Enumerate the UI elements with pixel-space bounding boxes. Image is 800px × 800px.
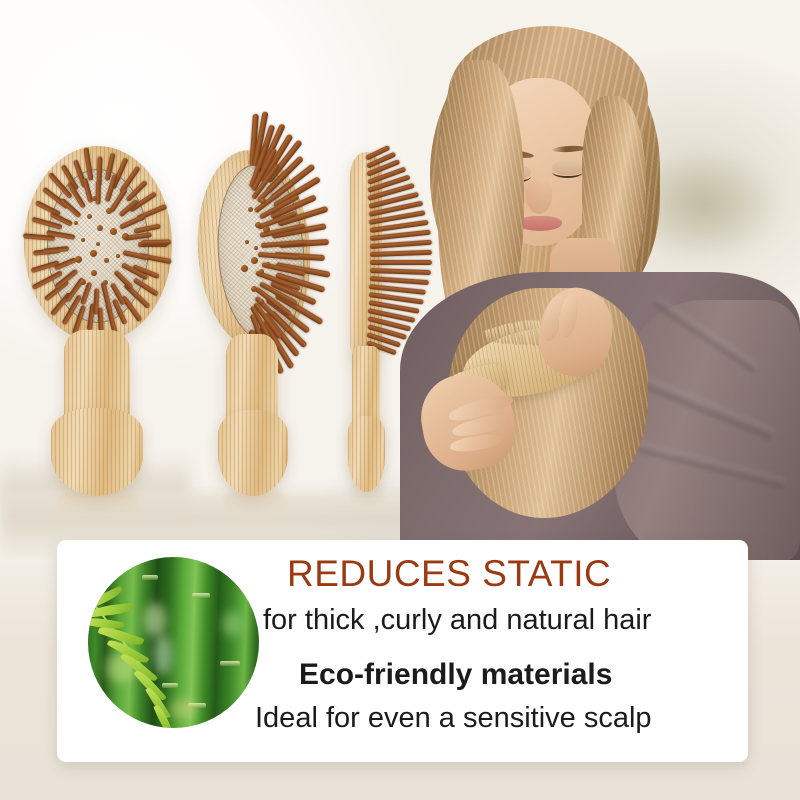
product-brush-angled <box>196 142 356 512</box>
brush-pin-head <box>80 279 86 285</box>
product-promo-image: REDUCES STATIC for thick ,curly and natu… <box>0 0 800 800</box>
bamboo-grove-photo <box>88 557 259 728</box>
brush-pin-head <box>254 246 258 250</box>
promo-subline-1: for thick ,curly and natural hair <box>263 604 651 637</box>
model-eyelash-right <box>552 166 583 178</box>
model-nose <box>526 178 552 214</box>
brush-pin-head <box>96 242 100 246</box>
brush-pin <box>93 288 99 314</box>
model-lips <box>518 216 562 231</box>
brush-pin-head <box>87 214 92 219</box>
promo-subline-2: Eco-friendly materials <box>299 658 612 692</box>
brush-pin-head <box>255 222 261 228</box>
bamboo-node <box>220 661 240 666</box>
brush-pin-head <box>251 286 257 292</box>
promo-headline: REDUCES STATIC <box>287 553 611 595</box>
brush-pin-head <box>116 254 120 258</box>
brush-pin-head <box>263 226 270 233</box>
product-brush-front <box>18 140 198 510</box>
brush-pin-head <box>106 208 112 214</box>
brush-3-reflection <box>350 480 384 506</box>
brush-1-handle-flare <box>51 408 143 496</box>
brush-2-handle-flare <box>218 410 288 496</box>
brush-pin-head <box>97 225 103 231</box>
bamboo-node <box>192 593 210 598</box>
brush-pin <box>141 240 171 246</box>
bamboo-highlight <box>222 611 242 637</box>
brush-pin-head <box>259 269 264 274</box>
brush-pin-head <box>74 221 78 225</box>
bamboo-leaf-spray <box>88 591 194 727</box>
brush-pin <box>96 181 101 205</box>
lifestyle-photo-model <box>400 0 800 560</box>
brush-pin-head <box>259 299 264 304</box>
bamboo-node <box>142 575 158 580</box>
brush-pin-head <box>75 256 82 263</box>
brush-pin-head <box>110 228 117 235</box>
brush-2-reflection <box>224 488 286 518</box>
brush-1-reflection <box>58 488 138 522</box>
brush-pin-head <box>251 257 258 264</box>
promo-subline-3: Ideal for even a sensitive scalp <box>255 702 652 735</box>
